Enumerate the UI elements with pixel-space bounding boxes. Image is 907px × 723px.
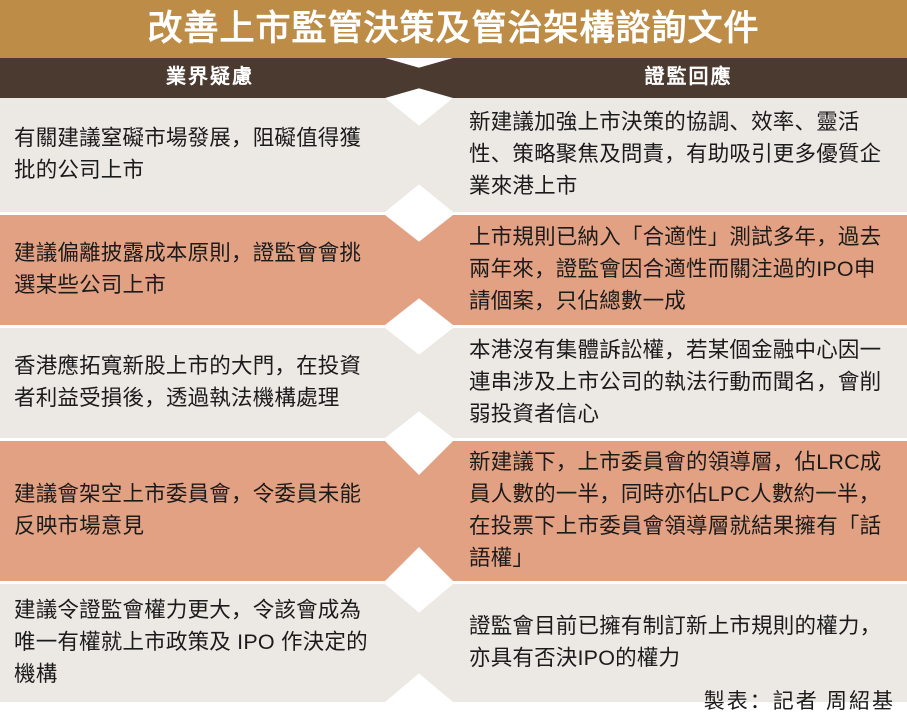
response-cell: 新建議下，上市委員會的領導層，佔LRC成員人數的一半，同時亦佔LPC人數約一半，… xyxy=(383,441,907,581)
table-row: 有關建議窒礙市場發展，阻礙值得獲批的公司上市新建議加強上市決策的協調、效率、靈活… xyxy=(0,98,907,212)
rows-container: 有關建議窒礙市場發展，阻礙值得獲批的公司上市新建議加強上市決策的協調、效率、靈活… xyxy=(0,98,907,702)
response-cell: 上市規則已納入「合適性」測試多年，過去兩年來，證監會因合適性而關注過的IPO申請… xyxy=(383,215,907,325)
response-cell: 新建議加強上市決策的協調、效率、靈活性、策略聚焦及問責，有助吸引更多優質企業來港… xyxy=(383,98,907,212)
infographic-table: 改善上市監管決策及管治架構諮詢文件 業界疑慮 證監回應 有關建議窒礙市場發展，阻… xyxy=(0,0,907,723)
response-cell: 本港沒有集體訴訟權，若某個金融中心因一連串涉及上市公司的執法行動而聞名，會削弱投… xyxy=(383,328,907,438)
table-row: 建議會架空上市委員會，令委員未能反映市場意見新建議下，上市委員會的領導層，佔LR… xyxy=(0,441,907,581)
table-row: 建議偏離披露成本原則，證監會會挑選某些公司上市上市規則已納入「合適性」測試多年，… xyxy=(0,215,907,325)
column-header-band: 業界疑慮 證監回應 xyxy=(0,58,907,98)
page-title: 改善上市監管決策及管治架構諮詢文件 xyxy=(0,0,907,58)
column-header-left-label: 業界疑慮 xyxy=(0,58,420,98)
footer-credit: 製表：記者 周紹基 xyxy=(704,685,895,715)
column-header-right-label: 證監回應 xyxy=(470,58,907,98)
title-bar: 改善上市監管決策及管治架構諮詢文件 xyxy=(0,0,907,58)
table-row: 香港應拓寬新股上市的大門，在投資者利益受損後，透過執法機構處理本港沒有集體訴訟權… xyxy=(0,328,907,438)
